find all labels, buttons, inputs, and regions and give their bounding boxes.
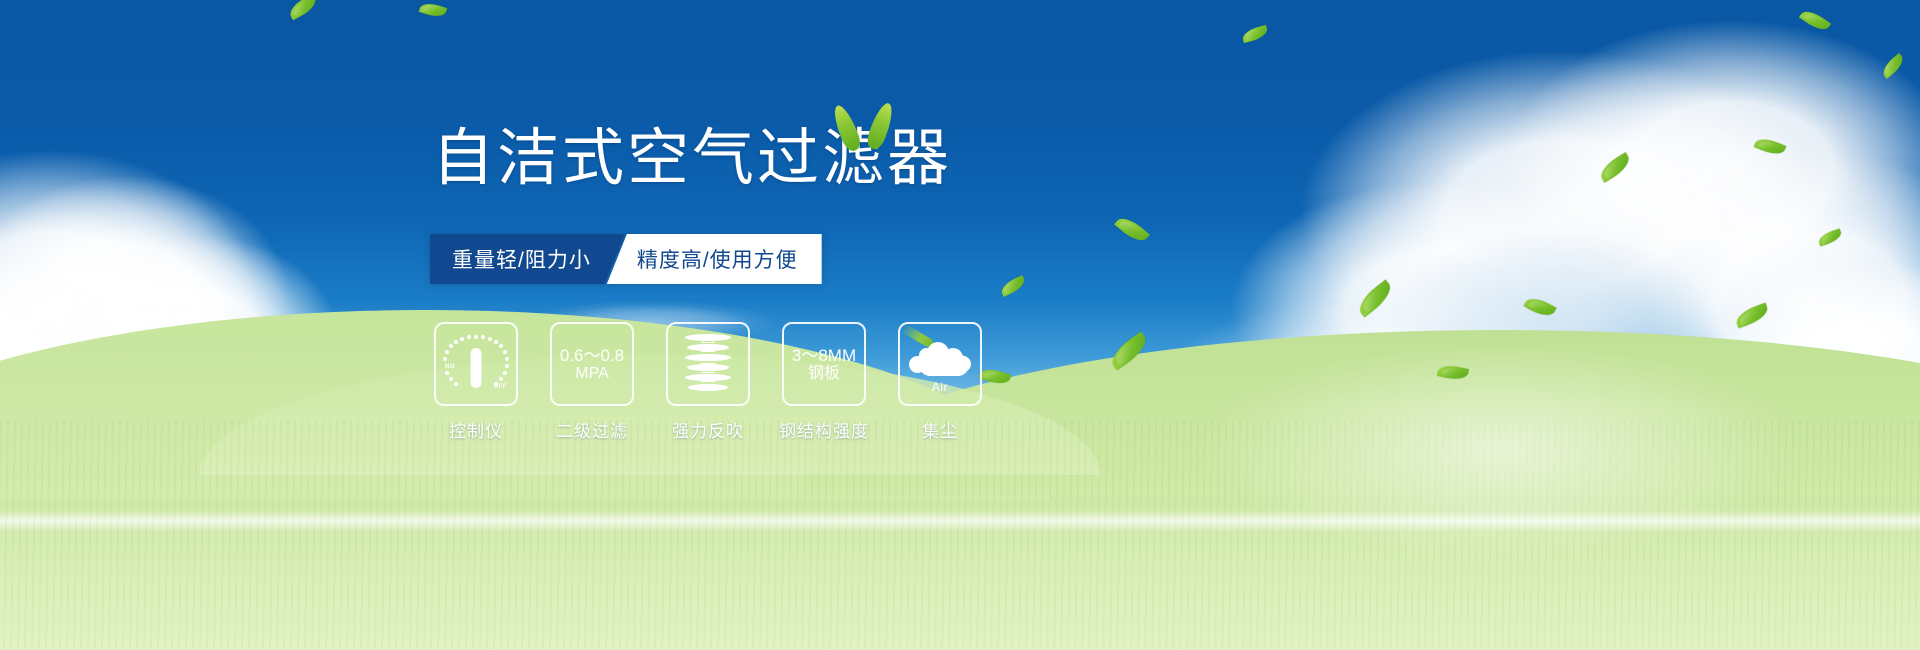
tab-lightweight-low-resistance[interactable]: 重量轻/阻力小 <box>430 234 625 284</box>
feature-icon-box: 3〜8MM 钢板 <box>782 322 866 406</box>
feature-icon-box: Air <box>898 322 982 406</box>
feature-icon-row: NO OFF 控制仪 0.6〜0.8 MPA 二级过滤 <box>434 322 982 442</box>
filter-stack-icon <box>679 332 737 396</box>
feature-tabs: 重量轻/阻力小 精度高/使用方便 <box>430 234 822 284</box>
steel-thickness: 3〜8MM <box>792 346 856 365</box>
pressure-unit: MPA <box>560 365 624 383</box>
feature-label: 强力反吹 <box>672 417 744 442</box>
feature-label: 钢结构强度 <box>779 417 869 442</box>
feature-icon-box: 0.6〜0.8 MPA <box>550 322 634 406</box>
feature-icon-box <box>666 322 750 406</box>
tab-high-precision-easy-use[interactable]: 精度高/使用方便 <box>607 234 822 284</box>
feature-icon-box: NO OFF <box>434 322 518 406</box>
gauge-on-label: NO <box>445 364 455 370</box>
feature-label: 集尘 <box>922 417 958 442</box>
steel-plate-text-icon: 3〜8MM 钢板 <box>792 346 856 383</box>
feature-item-steel-strength[interactable]: 3〜8MM 钢板 钢结构强度 <box>782 322 866 442</box>
steel-material: 钢板 <box>792 365 856 383</box>
banner-content: 自洁式空气过滤器 重量轻/阻力小 精度高/使用方便 <box>0 0 1920 650</box>
feature-label: 二级过滤 <box>556 417 628 442</box>
feature-label: 控制仪 <box>449 417 503 442</box>
air-cloud-icon: Air <box>907 336 973 392</box>
pressure-text-icon: 0.6〜0.8 MPA <box>560 346 624 383</box>
feature-item-strong-backblow[interactable]: 强力反吹 <box>666 322 750 442</box>
feature-item-two-stage-filtration[interactable]: 0.6〜0.8 MPA 二级过滤 <box>550 322 634 442</box>
gauge-off-label: OFF <box>494 384 508 390</box>
feature-item-controller[interactable]: NO OFF 控制仪 <box>434 322 518 442</box>
air-label: Air <box>907 380 973 394</box>
feature-item-dust-collection[interactable]: Air 集尘 <box>898 322 982 442</box>
tab-label: 重量轻/阻力小 <box>452 244 591 274</box>
gauge-icon: NO OFF <box>444 332 508 396</box>
pressure-range: 0.6〜0.8 <box>560 346 624 365</box>
product-banner: 自洁式空气过滤器 重量轻/阻力小 精度高/使用方便 <box>0 0 1920 650</box>
gauge-needle-icon <box>471 348 482 388</box>
tab-label: 精度高/使用方便 <box>637 244 798 274</box>
